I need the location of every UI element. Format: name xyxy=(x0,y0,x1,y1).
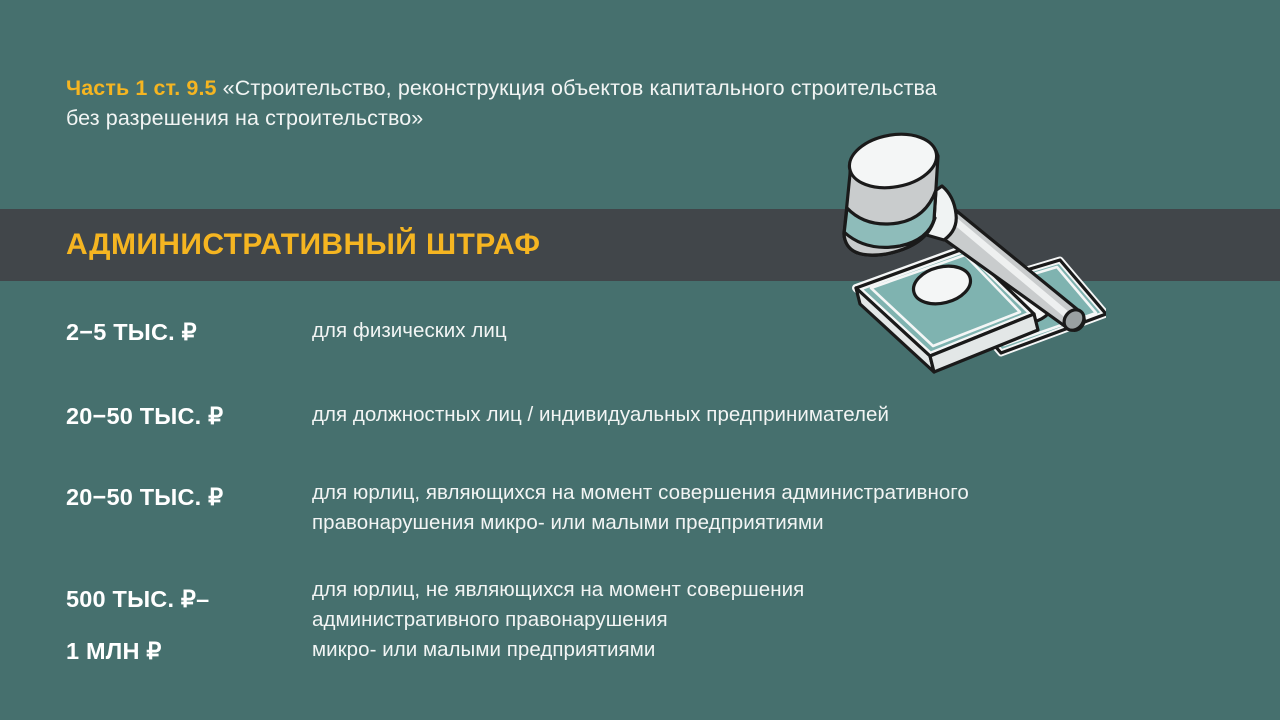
amount-line: 500 ТЫС. ₽– xyxy=(66,573,312,625)
amount-line: 20−50 ТЫС. ₽ xyxy=(66,475,312,519)
description-line: правонарушения микро- или малыми предпри… xyxy=(312,508,1240,538)
fine-description: для юрлиц, не являющихся на момент совер… xyxy=(312,573,1280,665)
amount-line: 20−50 ТЫС. ₽ xyxy=(66,394,312,438)
fine-amount: 500 ТЫС. ₽– 1 МЛН ₽ xyxy=(66,573,312,677)
fine-row: 500 ТЫС. ₽– 1 МЛН ₽ для юрлиц, не являющ… xyxy=(0,573,1280,677)
description-line: для должностных лиц / индивидуальных пре… xyxy=(312,400,1240,430)
fine-amount: 20−50 ТЫС. ₽ xyxy=(66,475,312,519)
fine-description: для юрлиц, являющихся на момент совершен… xyxy=(312,475,1280,538)
infographic-slide: Часть 1 ст. 9.5 «Строительство, реконстр… xyxy=(0,0,1280,720)
fine-row: 2−5 ТЫС. ₽ для физических лиц xyxy=(0,310,1280,354)
amount-line: 2−5 ТЫС. ₽ xyxy=(66,310,312,354)
description-line: для физических лиц xyxy=(312,316,1240,346)
fine-amount: 20−50 ТЫС. ₽ xyxy=(66,394,312,438)
fine-amount: 2−5 ТЫС. ₽ xyxy=(66,310,312,354)
fine-description: для должностных лиц / индивидуальных пре… xyxy=(312,394,1280,430)
banner-title: АДМИНИСТРАТИВНЫЙ ШТРАФ xyxy=(66,228,540,262)
fine-row: 20−50 ТЫС. ₽ для должностных лиц / индив… xyxy=(0,394,1280,438)
page-title: Часть 1 ст. 9.5 «Строительство, реконстр… xyxy=(66,73,976,133)
description-line: микро- или малыми предприятиями xyxy=(312,635,1240,665)
fine-description: для физических лиц xyxy=(312,310,1280,346)
article-reference: Часть 1 ст. 9.5 xyxy=(66,76,217,100)
amount-line: 1 МЛН ₽ xyxy=(66,625,312,677)
administrative-fine-banner: АДМИНИСТРАТИВНЫЙ ШТРАФ xyxy=(0,209,1280,281)
description-line: для юрлиц, являющихся на момент совершен… xyxy=(312,478,1240,508)
description-line: для юрлиц, не являющихся на момент совер… xyxy=(312,575,1240,605)
description-line: административного правонарушения xyxy=(312,605,1240,635)
fine-row: 20−50 ТЫС. ₽ для юрлиц, являющихся на мо… xyxy=(0,475,1280,538)
